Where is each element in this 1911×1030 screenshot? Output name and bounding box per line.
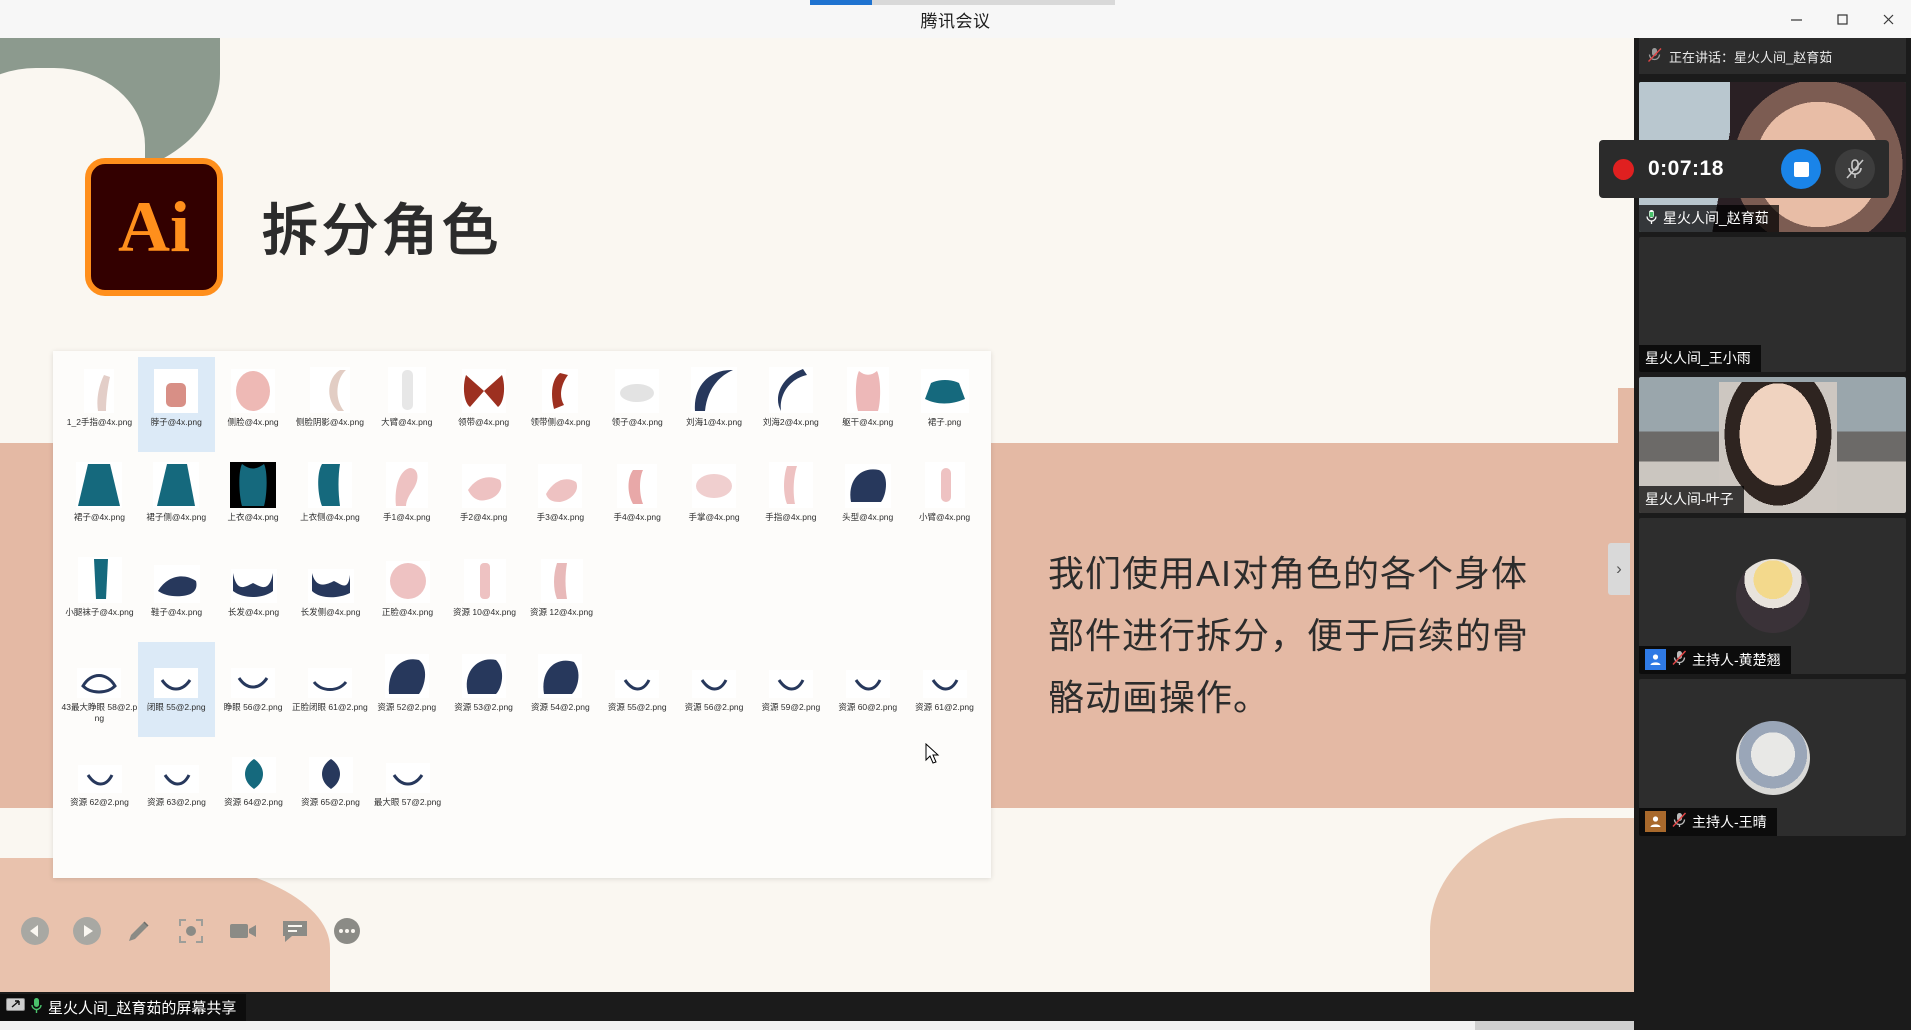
spotlight-button[interactable] — [176, 916, 206, 946]
asset-thumbnail — [917, 646, 973, 698]
asset-item[interactable]: 侧脸@4x.png — [215, 357, 292, 452]
asset-thumbnail — [534, 551, 590, 603]
asset-item[interactable]: 手1@4x.png — [368, 452, 445, 547]
host-badge-icon — [1645, 649, 1666, 670]
taskbar-strip — [0, 1021, 1911, 1030]
asset-filename: 1_2手指@4x.png — [61, 417, 137, 428]
asset-filename: 侧脸@4x.png — [215, 417, 291, 428]
chat-button[interactable] — [280, 916, 310, 946]
ai-logo-text: Ai — [118, 186, 190, 269]
recording-timer: 0:07:18 — [1648, 157, 1767, 181]
asset-item[interactable]: 长发侧@4x.png — [292, 547, 369, 642]
asset-item[interactable]: 领带@4x.png — [445, 357, 522, 452]
shared-screen-stage[interactable]: Ai 拆分角色 我们使用AI对角色的各个身体部件进行拆分，便于后续的骨骼动画操作… — [0, 38, 1634, 992]
participant-tile[interactable]: 星火人间_王小雨 — [1639, 237, 1906, 372]
asset-item[interactable]: 脖子@4x.png — [138, 357, 215, 452]
asset-thumbnail — [380, 551, 436, 603]
asset-filename: 领带@4x.png — [446, 417, 522, 428]
asset-filename: 大臂@4x.png — [369, 417, 445, 428]
asset-filename: 正脸闭眼 61@2.png — [292, 702, 368, 713]
asset-filename: 手指@4x.png — [753, 512, 829, 523]
asset-filename: 资源 63@2.png — [139, 797, 215, 808]
asset-filename: 资源 52@2.png — [369, 702, 445, 713]
asset-item[interactable]: 资源 55@2.png — [599, 642, 676, 737]
asset-item[interactable]: 最大眼 57@2.png — [369, 737, 446, 832]
slide-title: 拆分角色 — [262, 186, 502, 267]
window-title-bar: 腾讯会议 — [0, 0, 1911, 38]
asset-filename: 鞋子@4x.png — [139, 607, 215, 618]
asset-filename: 上衣@4x.png — [215, 512, 291, 523]
asset-item[interactable]: 资源 64@2.png — [215, 737, 292, 832]
asset-item[interactable]: 1_2手指@4x.png — [61, 357, 138, 452]
participant-name: 星火人间_赵育茹 — [1663, 208, 1769, 228]
asset-thumbnail — [226, 551, 282, 603]
asset-filename: 资源 59@2.png — [753, 702, 829, 713]
asset-thumbnail — [149, 551, 205, 603]
asset-item[interactable]: 头型@4x.png — [829, 452, 906, 547]
microphone-muted-icon — [1672, 812, 1687, 831]
next-slide-arrow-icon[interactable]: › — [1608, 543, 1630, 595]
asset-thumbnail — [226, 741, 282, 793]
asset-item[interactable]: 刘海1@4x.png — [676, 357, 753, 452]
asset-thumbnail — [71, 456, 127, 508]
annotate-pencil-button[interactable] — [124, 916, 154, 946]
asset-filename: 资源 56@2.png — [676, 702, 752, 713]
asset-item[interactable]: 资源 63@2.png — [138, 737, 215, 832]
asset-filename: 侧脸阴影@4x.png — [292, 417, 368, 428]
asset-item[interactable]: 资源 52@2.png — [368, 642, 445, 737]
speaker-mic-muted-icon — [1647, 47, 1663, 66]
asset-filename: 长发@4x.png — [216, 607, 292, 618]
asset-thumbnail — [303, 741, 359, 793]
asset-thumbnail — [225, 361, 281, 413]
asset-item[interactable]: 资源 10@4x.png — [446, 547, 523, 642]
asset-thumbnail — [379, 361, 435, 413]
asset-thumbnail — [532, 646, 588, 698]
presentation-slide: Ai 拆分角色 我们使用AI对角色的各个身体部件进行拆分，便于后续的骨骼动画操作… — [0, 38, 1634, 992]
asset-thumbnail — [302, 646, 358, 698]
asset-filename: 领子@4x.png — [599, 417, 675, 428]
active-tab-indicator — [810, 0, 872, 5]
asset-thumbnail — [840, 456, 896, 508]
asset-thumbnail — [456, 361, 512, 413]
asset-item[interactable]: 资源 61@2.png — [906, 642, 983, 737]
asset-filename: 资源 54@2.png — [522, 702, 598, 713]
asset-item[interactable]: 刘海2@4x.png — [752, 357, 829, 452]
asset-thumbnail — [148, 646, 204, 698]
asset-filename: 手1@4x.png — [369, 512, 445, 523]
asset-filename: 资源 60@2.png — [830, 702, 906, 713]
tab-strip-indicator — [810, 0, 1115, 5]
asset-thumbnail — [456, 646, 512, 698]
asset-thumbnail — [840, 361, 896, 413]
asset-thumbnail — [686, 361, 742, 413]
asset-item[interactable]: 大臂@4x.png — [368, 357, 445, 452]
asset-row: 43最大睁眼 58@2.png闭眼 55@2.png睁眼 56@2.png正脸闭… — [61, 642, 983, 737]
avatar — [1736, 559, 1810, 633]
asset-thumbnail — [379, 456, 435, 508]
microphone-muted-icon — [1672, 650, 1687, 669]
asset-filename: 躯干@4x.png — [830, 417, 906, 428]
asset-filename: 资源 62@2.png — [62, 797, 138, 808]
asset-filename: 睁眼 56@2.png — [215, 702, 291, 713]
decorative-edge-tab — [1618, 388, 1634, 648]
asset-filename: 资源 55@2.png — [599, 702, 675, 713]
more-options-button[interactable] — [332, 916, 362, 946]
asset-thumbnail — [380, 741, 436, 793]
asset-item[interactable]: 资源 59@2.png — [752, 642, 829, 737]
asset-filename: 脖子@4x.png — [138, 417, 214, 428]
asset-thumbnail — [72, 741, 128, 793]
asset-item[interactable]: 领带侧@4x.png — [522, 357, 599, 452]
asset-thumbnail — [763, 361, 819, 413]
recording-controls-widget[interactable]: 0:07:18 — [1599, 140, 1889, 198]
microphone-on-icon — [1645, 209, 1658, 228]
asset-item[interactable]: 手3@4x.png — [522, 452, 599, 547]
recording-indicator-icon — [1613, 159, 1634, 180]
screen-share-status-text: 星火人间_赵育茹的屏幕共享 — [48, 997, 236, 1018]
minimize-icon[interactable] — [1773, 0, 1819, 38]
asset-filename: 资源 12@4x.png — [524, 607, 600, 618]
asset-filename: 最大眼 57@2.png — [370, 797, 446, 808]
asset-filename: 裙子@4x.png — [61, 512, 137, 523]
asset-item[interactable]: 侧脸阴影@4x.png — [291, 357, 368, 452]
asset-item[interactable]: 睁眼 56@2.png — [215, 642, 292, 737]
asset-item[interactable]: 43最大睁眼 58@2.png — [61, 642, 138, 737]
asset-item[interactable]: 资源 54@2.png — [522, 642, 599, 737]
asset-filename: 刘海1@4x.png — [676, 417, 752, 428]
asset-filename: 手掌@4x.png — [676, 512, 752, 523]
asset-filename: 上衣侧@4x.png — [292, 512, 368, 523]
asset-thumbnail — [686, 646, 742, 698]
participant-name: 主持人-黄楚翘 — [1692, 650, 1781, 670]
asset-item[interactable]: 领子@4x.png — [599, 357, 676, 452]
adobe-illustrator-icon: Ai — [85, 158, 223, 296]
asset-thumbnail — [840, 646, 896, 698]
asset-row: 1_2手指@4x.png脖子@4x.png侧脸@4x.png侧脸阴影@4x.pn… — [61, 357, 983, 452]
slide-body-text: 我们使用AI对角色的各个身体部件进行拆分，便于后续的骨骼动画操作。 — [1048, 543, 1558, 729]
asset-item[interactable]: 正脸闭眼 61@2.png — [291, 642, 368, 737]
asset-item[interactable]: 手掌@4x.png — [676, 452, 753, 547]
asset-thumbnail — [148, 361, 204, 413]
asset-item[interactable]: 裙子@4x.png — [61, 452, 138, 547]
asset-item[interactable]: 裙子.png — [906, 357, 983, 452]
asset-filename: 头型@4x.png — [830, 512, 906, 523]
asset-thumbnail — [71, 646, 127, 698]
asset-filename: 小臂@4x.png — [907, 512, 983, 523]
asset-item[interactable]: 资源 53@2.png — [445, 642, 522, 737]
asset-item[interactable]: 躯干@4x.png — [829, 357, 906, 452]
asset-filename: 小腿袜子@4x.png — [62, 607, 138, 618]
screen-share-icon — [6, 998, 25, 1017]
previous-slide-button[interactable] — [20, 916, 50, 946]
asset-filename: 手4@4x.png — [599, 512, 675, 523]
asset-thumbnail — [917, 456, 973, 508]
participant-name-tag: 主持人-王晴 — [1639, 808, 1777, 836]
participant-name: 星火人间_王小雨 — [1645, 348, 1751, 368]
asset-row: 小腿袜子@4x.png鞋子@4x.png长发@4x.png长发侧@4x.png正… — [61, 547, 983, 642]
screen-share-status-bar: 星火人间_赵育茹的屏幕共享 — [0, 994, 246, 1021]
asset-filename: 刘海2@4x.png — [753, 417, 829, 428]
stop-recording-button[interactable] — [1781, 149, 1821, 189]
asset-item[interactable]: 裙子侧@4x.png — [138, 452, 215, 547]
asset-filename: 资源 10@4x.png — [447, 607, 523, 618]
asset-filename: 领带侧@4x.png — [522, 417, 598, 428]
asset-row: 裙子@4x.png裙子侧@4x.png上衣@4x.png上衣侧@4x.png手1… — [61, 452, 983, 547]
asset-thumbnail — [532, 361, 588, 413]
asset-filename: 闭眼 55@2.png — [138, 702, 214, 713]
avatar — [1736, 721, 1810, 795]
asset-thumbnail — [686, 456, 742, 508]
asset-item[interactable]: 手指@4x.png — [752, 452, 829, 547]
participant-name-tag: 主持人-黄楚翘 — [1639, 646, 1791, 674]
asset-filename: 资源 53@2.png — [446, 702, 522, 713]
asset-item[interactable]: 手4@4x.png — [599, 452, 676, 547]
asset-item[interactable]: 小腿袜子@4x.png — [61, 547, 138, 642]
active-speaker-text: 正在讲话：星火人间_赵育茹 — [1669, 47, 1832, 66]
asset-thumbnail — [225, 646, 281, 698]
maximize-icon[interactable] — [1819, 0, 1865, 38]
participant-tile[interactable]: 星火人间-叶子 — [1639, 377, 1906, 513]
active-speaker-banner: 正在讲话：星火人间_赵育茹 — [1639, 38, 1906, 74]
asset-filename: 资源 61@2.png — [907, 702, 983, 713]
asset-filename: 裙子.png — [907, 417, 983, 428]
asset-item[interactable]: 资源 65@2.png — [292, 737, 369, 832]
asset-thumbnail — [72, 551, 128, 603]
asset-item[interactable]: 上衣侧@4x.png — [291, 452, 368, 547]
asset-item[interactable]: 手2@4x.png — [445, 452, 522, 547]
close-icon[interactable] — [1865, 0, 1911, 38]
asset-thumbnail — [148, 456, 204, 508]
asset-filename: 资源 64@2.png — [216, 797, 292, 808]
asset-item[interactable]: 资源 12@4x.png — [523, 547, 600, 642]
asset-thumbnail — [917, 361, 973, 413]
record-video-button[interactable] — [228, 916, 258, 946]
asset-thumbnail — [302, 361, 358, 413]
asset-item[interactable]: 长发@4x.png — [215, 547, 292, 642]
asset-thumbnail — [457, 551, 513, 603]
asset-thumbnail — [149, 741, 205, 793]
asset-browser-panel[interactable]: 1_2手指@4x.png脖子@4x.png侧脸@4x.png侧脸阴影@4x.pn… — [53, 351, 991, 878]
asset-filename: 长发侧@4x.png — [293, 607, 369, 618]
participant-tile[interactable]: 主持人-黄楚翘 — [1639, 518, 1906, 674]
window-controls — [1773, 0, 1911, 38]
mouse-cursor-icon — [925, 743, 941, 765]
asset-filename: 手3@4x.png — [522, 512, 598, 523]
asset-thumbnail — [379, 646, 435, 698]
asset-thumbnail — [532, 456, 588, 508]
asset-item[interactable]: 资源 56@2.png — [676, 642, 753, 737]
asset-thumbnail — [303, 551, 359, 603]
asset-thumbnail — [763, 646, 819, 698]
asset-filename: 正脸@4x.png — [370, 607, 446, 618]
asset-item[interactable]: 闭眼 55@2.png — [138, 642, 215, 737]
asset-filename: 资源 65@2.png — [293, 797, 369, 808]
asset-item[interactable]: 资源 62@2.png — [61, 737, 138, 832]
participant-name-tag: 星火人间_王小雨 — [1639, 345, 1761, 372]
asset-thumbnail — [609, 361, 665, 413]
window-title: 腾讯会议 — [921, 7, 991, 32]
asset-thumbnail — [302, 456, 358, 508]
asset-item[interactable]: 资源 60@2.png — [829, 642, 906, 737]
asset-item[interactable]: 正脸@4x.png — [369, 547, 446, 642]
participant-name-tag: 星火人间_赵育茹 — [1639, 205, 1779, 232]
decorative-blob-bottom-right — [1430, 818, 1634, 992]
asset-thumbnail — [456, 456, 512, 508]
asset-item[interactable]: 鞋子@4x.png — [138, 547, 215, 642]
asset-item[interactable]: 上衣@4x.png — [215, 452, 292, 547]
asset-item[interactable]: 小臂@4x.png — [906, 452, 983, 547]
asset-thumbnail — [763, 456, 819, 508]
presenter-toolbar[interactable] — [20, 916, 362, 946]
asset-filename: 手2@4x.png — [446, 512, 522, 523]
participant-tile[interactable]: 主持人-王晴 — [1639, 679, 1906, 836]
participant-name: 主持人-王晴 — [1692, 812, 1767, 832]
participant-name: 星火人间-叶子 — [1645, 489, 1734, 509]
asset-thumbnail — [609, 646, 665, 698]
asset-filename: 裙子侧@4x.png — [138, 512, 214, 523]
mute-microphone-button[interactable] — [1835, 149, 1875, 189]
asset-thumbnail — [71, 361, 127, 413]
host-badge-icon — [1645, 811, 1666, 832]
play-slide-button[interactable] — [72, 916, 102, 946]
asset-filename: 43最大睁眼 58@2.png — [61, 702, 137, 724]
asset-row: 资源 62@2.png资源 63@2.png资源 64@2.png资源 65@2… — [61, 737, 983, 832]
asset-thumbnail — [225, 456, 281, 508]
asset-thumbnail — [609, 456, 665, 508]
microphone-on-icon — [30, 997, 43, 1018]
participant-name-tag: 星火人间-叶子 — [1639, 486, 1744, 513]
